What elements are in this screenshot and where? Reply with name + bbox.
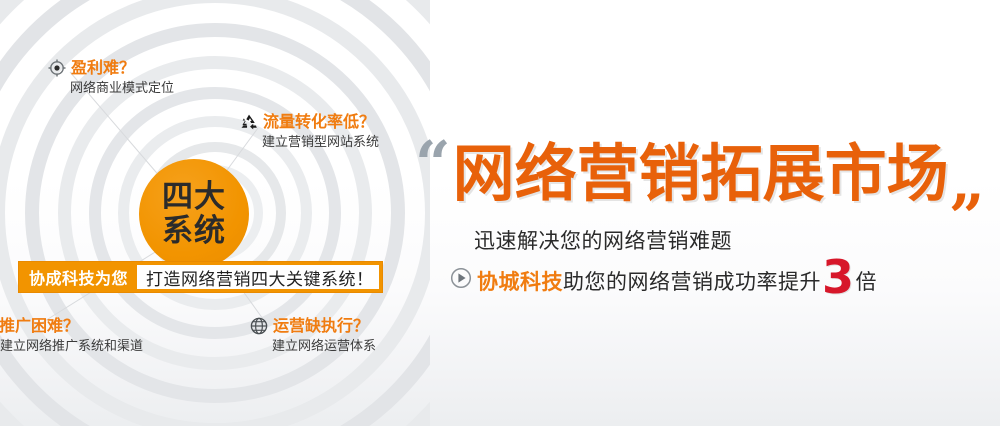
- node-traffic[interactable]: 流量转化率低？ 建立营销型网站系统: [240, 112, 379, 152]
- hero-subline-2: 协城科技 助您的网络营销成功率提升 3 倍: [450, 258, 877, 297]
- node-profit-head: 盈利难？: [48, 58, 174, 78]
- node-promote-title: 推广困难？: [0, 316, 79, 336]
- node-operate-title: 运营缺执行？: [273, 316, 369, 336]
- hero-multiplier-value: 3: [822, 262, 855, 292]
- node-promote-head: 推广困难？: [0, 316, 143, 336]
- hero-multiplier-unit: 倍: [856, 267, 878, 297]
- node-operate-head: 运营缺执行？: [250, 316, 376, 336]
- quote-close-mark: „: [950, 158, 986, 206]
- hero-pane: “ 网络营销拓展市场 „ 迅速解决您的网络营销难题 协城科技 助您的网络营销成功…: [415, 0, 1000, 426]
- node-traffic-title: 流量转化率低？: [263, 112, 375, 132]
- quote-open-mark: “: [415, 140, 451, 188]
- core-circle-line-1: 四大: [162, 180, 226, 214]
- recycle-icon: [240, 113, 258, 131]
- slogan-bar-lead: 协成科技为您: [19, 262, 137, 292]
- node-promote-subtitle: 建立网络推广系统和渠道: [0, 338, 143, 356]
- node-profit[interactable]: 盈利难？ 网络商业模式定位: [48, 58, 174, 98]
- node-operate[interactable]: 运营缺执行？ 建立网络运营体系: [250, 316, 376, 356]
- hero-subline-1: 迅速解决您的网络营销难题: [474, 228, 732, 254]
- node-traffic-subtitle: 建立营销型网站系统: [262, 134, 379, 152]
- globe-icon: [250, 317, 268, 335]
- marketing-banner: 四大 系统 盈利难？ 网络商业模式定位: [0, 0, 1000, 426]
- node-operate-subtitle: 建立网络运营体系: [272, 338, 376, 356]
- hero-headline-row: “ 网络营销拓展市场 „: [415, 138, 985, 210]
- hero-subline-2-rest: 助您的网络营销成功率提升: [563, 267, 821, 297]
- node-profit-title: 盈利难？: [71, 58, 135, 78]
- core-circle: 四大 系统: [139, 159, 249, 269]
- core-circle-line-2: 系统: [162, 214, 226, 248]
- slogan-bar: 协成科技为您 打造网络营销四大关键系统！: [18, 261, 383, 293]
- hero-headline: 网络营销拓展市场: [453, 138, 949, 210]
- slogan-bar-main: 打造网络营销四大关键系统！: [137, 265, 379, 289]
- play-circle-icon: [450, 267, 472, 289]
- crosshair-target-icon: [48, 59, 66, 77]
- hero-brand-name: 协城科技: [477, 267, 563, 297]
- node-profit-subtitle: 网络商业模式定位: [70, 80, 174, 98]
- node-promote[interactable]: 推广困难？ 建立网络推广系统和渠道: [0, 316, 143, 356]
- node-traffic-head: 流量转化率低？: [240, 112, 379, 132]
